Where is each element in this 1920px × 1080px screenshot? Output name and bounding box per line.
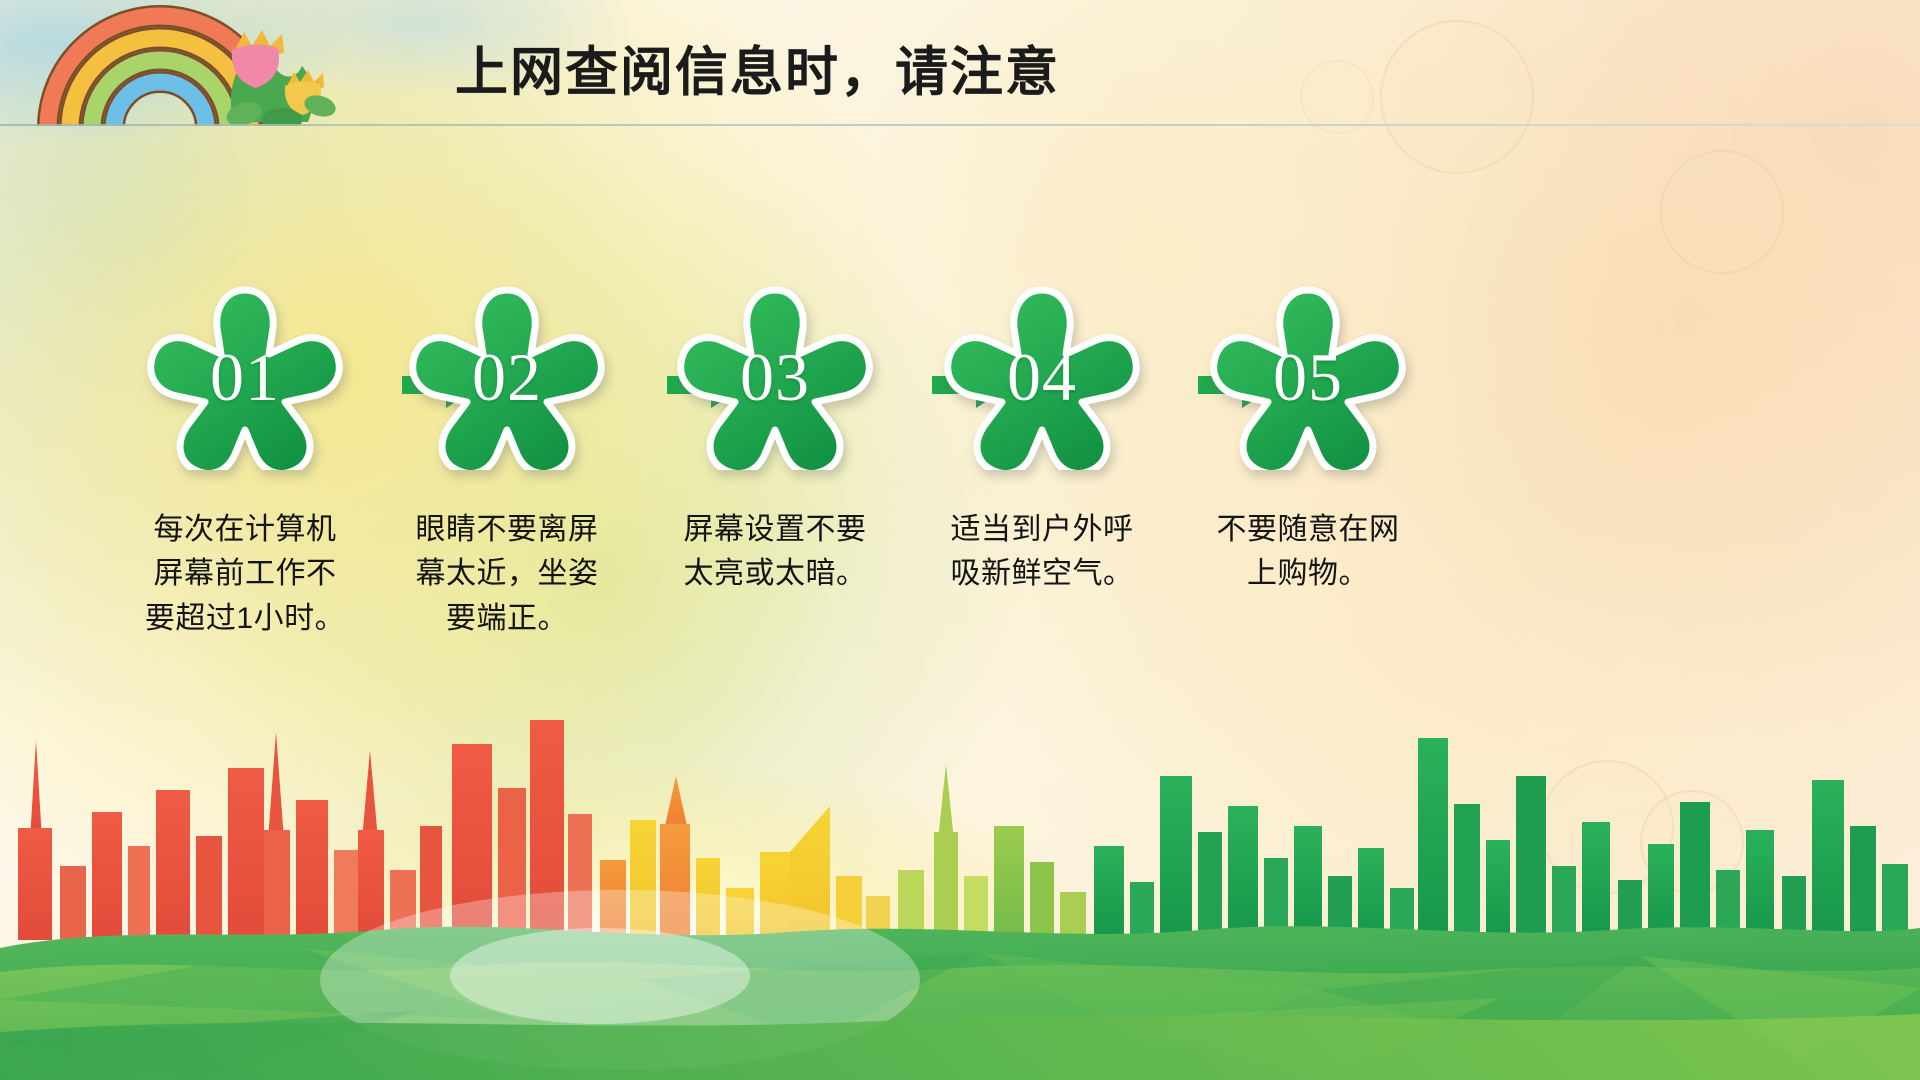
step-caption: 适当到户外呼 吸新鲜空气。 [912,508,1172,597]
step-item-05[interactable]: 05 不要随意在网 上购物。 [1178,280,1438,597]
caption-line: 每次在计算机 [115,508,375,552]
flower-icon [223,30,338,126]
caption-line: 屏幕前工作不 [115,552,375,596]
caption-line: 太亮或太暗。 [645,552,905,596]
step-number: 01 [145,280,345,470]
step-number: 04 [942,280,1142,470]
caption-line: 屏幕设置不要 [645,508,905,552]
scenery-illustration [0,680,1920,1080]
step-number: 05 [1208,280,1408,470]
step-caption: 不要随意在网 上购物。 [1178,508,1438,597]
step-badge[interactable]: 03 [675,280,875,470]
step-number: 02 [407,280,607,470]
step-caption: 眼睛不要离屏 幕太近，坐姿 要端正。 [377,508,637,641]
step-badge[interactable]: 04 [942,280,1142,470]
caption-line: 上购物。 [1178,552,1438,596]
caption-line: 眼睛不要离屏 [377,508,637,552]
step-caption: 每次在计算机 屏幕前工作不 要超过1小时。 [115,508,375,641]
caption-line: 要超过1小时。 [115,597,375,641]
step-caption: 屏幕设置不要 太亮或太暗。 [645,508,905,597]
rainbow-flower-icon [30,0,430,126]
step-item-01[interactable]: 01 每次在计算机 屏幕前工作不 要超过1小时。 [115,280,375,641]
slide-canvas: 上网查阅信息时，请注意 [0,0,1920,1080]
caption-line: 不要随意在网 [1178,508,1438,552]
caption-line: 幕太近，坐姿 [377,552,637,596]
step-badge[interactable]: 01 [145,280,345,470]
step-badge[interactable]: 02 [407,280,607,470]
step-item-04[interactable]: 04 适当到户外呼 吸新鲜空气。 [912,280,1172,597]
step-item-03[interactable]: 03 屏幕设置不要 太亮或太暗。 [645,280,905,597]
step-number: 03 [675,280,875,470]
bokeh-ring [1660,150,1784,274]
steps-row: 01 每次在计算机 屏幕前工作不 要超过1小时。 02 眼睛不要离屏 幕太近，坐… [0,280,1920,700]
caption-line: 要端正。 [377,597,637,641]
page-title: 上网查阅信息时，请注意 [455,30,1060,106]
slide-header: 上网查阅信息时，请注意 [0,0,1920,126]
step-item-02[interactable]: 02 眼睛不要离屏 幕太近，坐姿 要端正。 [377,280,637,641]
caption-line: 吸新鲜空气。 [912,552,1172,596]
caption-line: 适当到户外呼 [912,508,1172,552]
step-badge[interactable]: 05 [1208,280,1408,470]
header-divider [0,124,1920,126]
